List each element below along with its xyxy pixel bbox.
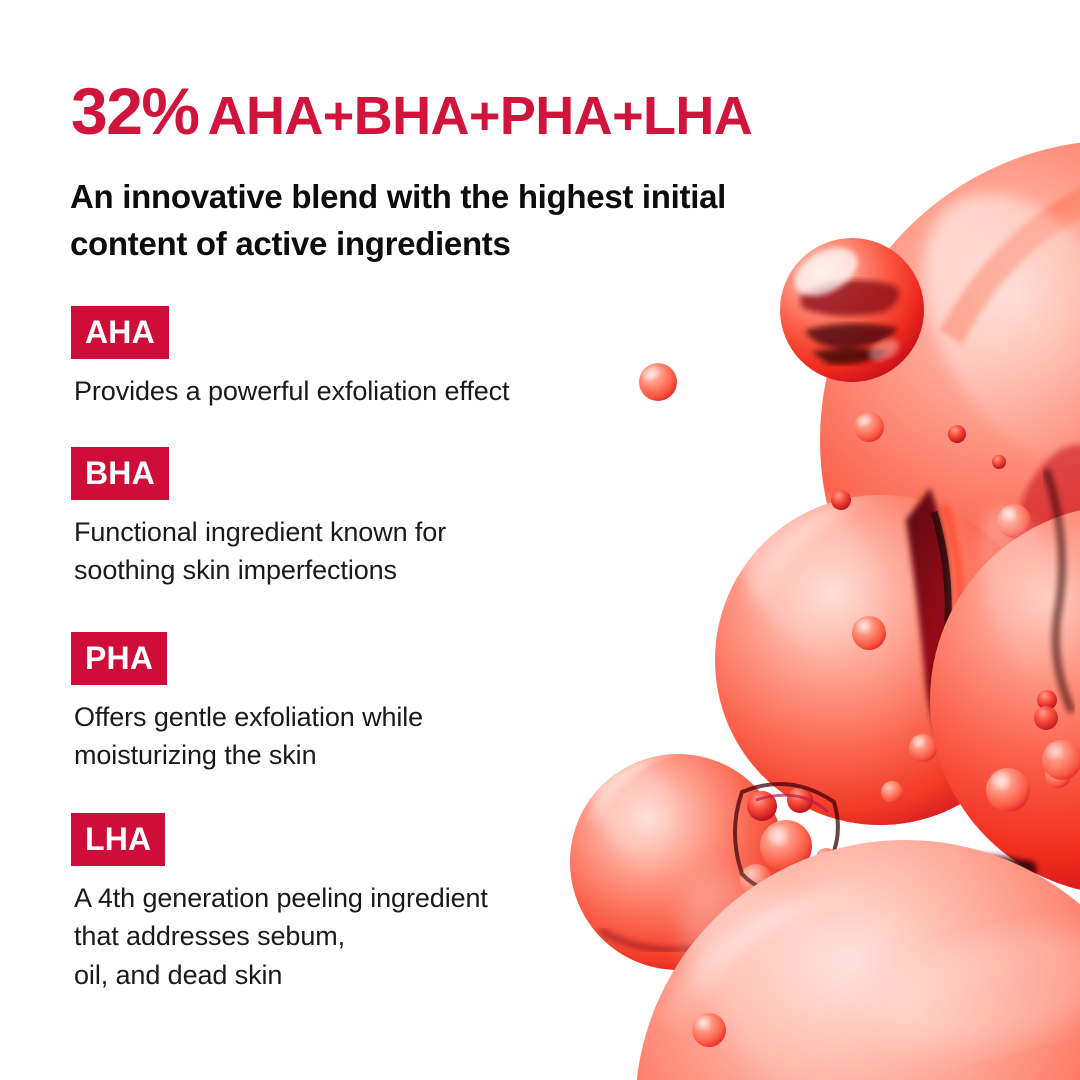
subtitle: An innovative blend with the highest ini… <box>70 174 860 268</box>
badge-pha: PHA <box>71 632 167 685</box>
badge-bha: BHA <box>71 447 169 500</box>
description-bha-line-1: Functional ingredient known for <box>74 513 446 551</box>
ingredient-section-bha: BHA Functional ingredient known for soot… <box>71 447 446 590</box>
percent-value: 32% <box>71 74 199 148</box>
badge-aha: AHA <box>71 306 169 359</box>
description-pha-line-2: moisturizing the skin <box>74 736 423 774</box>
content-layer: 32%AHA+BHA+PHA+LHA An innovative blend w… <box>0 0 1080 1080</box>
description-bha: Functional ingredient known for soothing… <box>74 513 446 590</box>
description-pha-line-1: Offers gentle exfoliation while <box>74 698 423 736</box>
subtitle-line-1: An innovative blend with the highest ini… <box>70 174 860 221</box>
description-aha: Provides a powerful exfoliation effect <box>74 372 509 410</box>
description-lha-line-1: A 4th generation peeling ingredient <box>74 879 488 917</box>
badge-lha: LHA <box>71 813 165 866</box>
description-lha: A 4th generation peeling ingredient that… <box>74 879 488 994</box>
description-lha-line-3: oil, and dead skin <box>74 956 488 994</box>
infographic-canvas: 32%AHA+BHA+PHA+LHA An innovative blend w… <box>0 0 1080 1080</box>
description-lha-line-2: that addresses sebum, <box>74 917 488 955</box>
ingredient-section-pha: PHA Offers gentle exfoliation while mois… <box>71 632 423 775</box>
description-pha: Offers gentle exfoliation while moisturi… <box>74 698 423 775</box>
description-bha-line-2: soothing skin imperfections <box>74 551 446 589</box>
ingredient-section-lha: LHA A 4th generation peeling ingredient … <box>71 813 488 994</box>
page-title: 32%AHA+BHA+PHA+LHA <box>71 78 752 144</box>
ingredient-section-aha: AHA Provides a powerful exfoliation effe… <box>71 306 509 410</box>
description-aha-line-1: Provides a powerful exfoliation effect <box>74 372 509 410</box>
subtitle-line-2: content of active ingredients <box>70 221 860 268</box>
acid-blend-label: AHA+BHA+PHA+LHA <box>208 86 753 146</box>
